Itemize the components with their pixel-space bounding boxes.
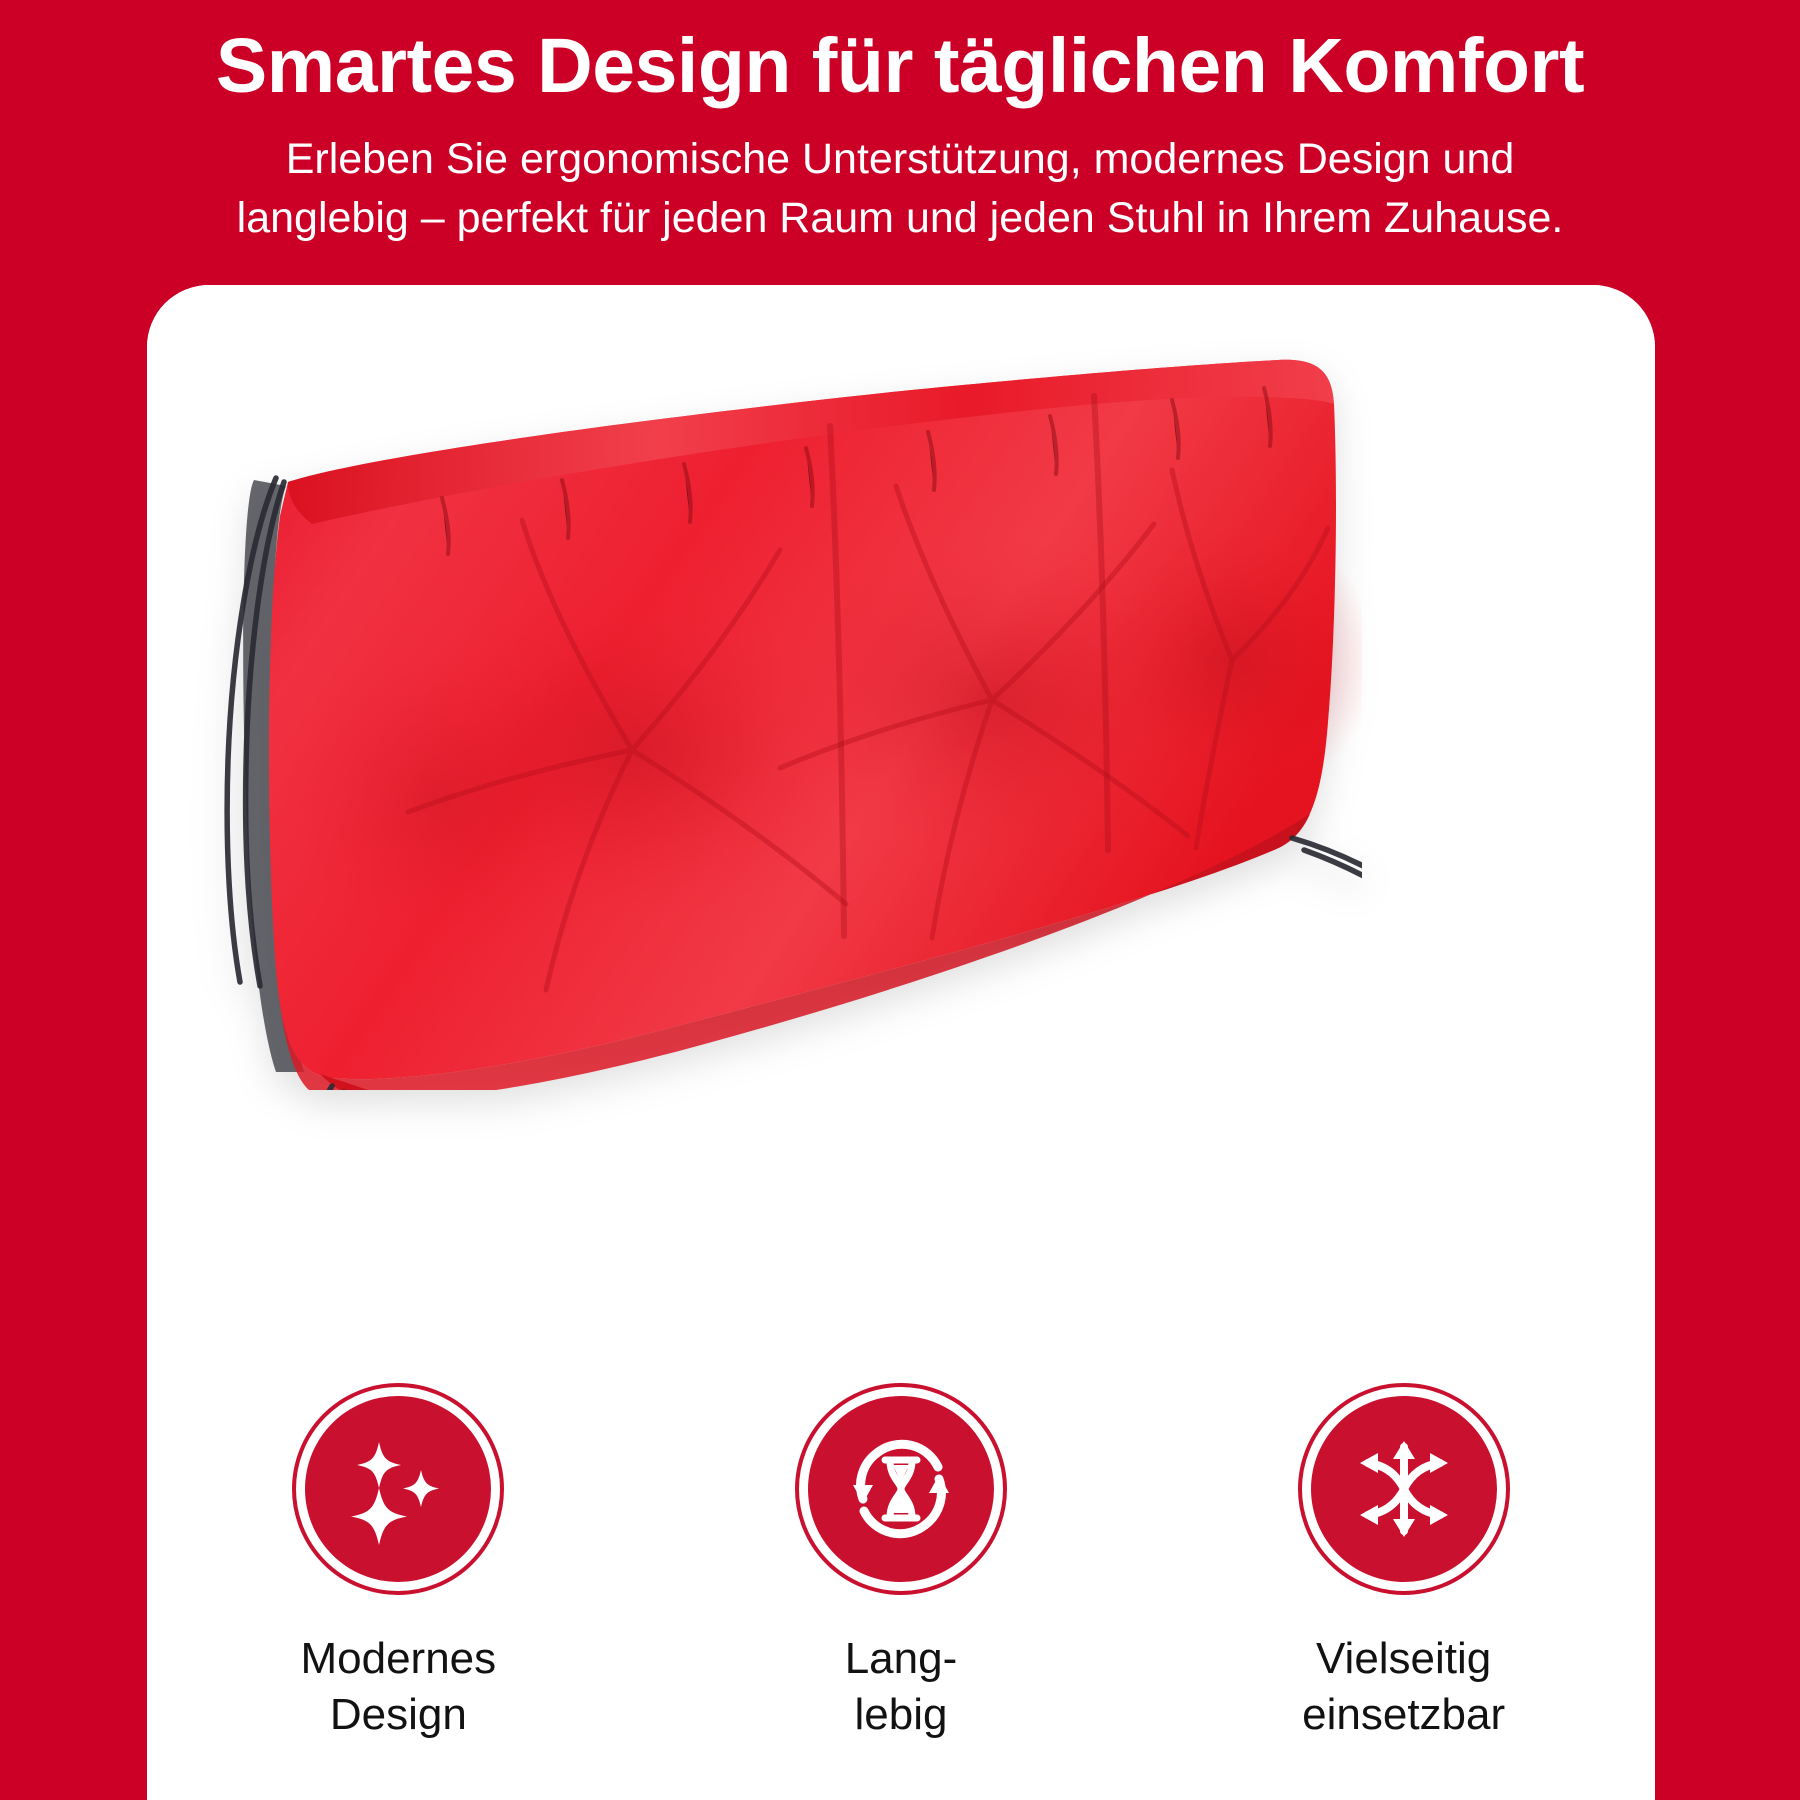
multi-direction-arrows-icon <box>1340 1425 1468 1553</box>
header: Smartes Design für täglichen Komfort Erl… <box>0 0 1800 248</box>
content-card: Modernes Design <box>147 285 1655 1800</box>
feature-label: Lang- lebig <box>845 1631 958 1744</box>
feature-item-durability: Lang- lebig <box>691 1383 1111 1744</box>
hourglass-refresh-icon <box>837 1425 965 1553</box>
feature-badge <box>1298 1383 1510 1595</box>
product-image-stage <box>147 285 1655 1185</box>
sparkle-icon <box>335 1426 461 1552</box>
subtitle: Erleben Sie ergonomische Unterstützung, … <box>50 108 1750 249</box>
page-title: Smartes Design für täglichen Komfort <box>0 26 1800 108</box>
feature-badge <box>292 1383 504 1595</box>
subtitle-line-1: Erleben Sie ergonomische Unterstützung, … <box>50 130 1750 189</box>
product-image-cushion <box>192 330 1362 1090</box>
subtitle-line-2: langlebig – perfekt für jeden Raum und j… <box>50 189 1750 248</box>
feature-label: Vielseitig einsetzbar <box>1302 1631 1505 1744</box>
feature-item-modern-design: Modernes Design <box>188 1383 608 1744</box>
feature-badge <box>795 1383 1007 1595</box>
feature-list: Modernes Design <box>147 1383 1655 1744</box>
promo-poster: Smartes Design für täglichen Komfort Erl… <box>0 0 1800 1800</box>
feature-item-versatility: Vielseitig einsetzbar <box>1194 1383 1614 1744</box>
feature-label: Modernes Design <box>300 1631 496 1744</box>
